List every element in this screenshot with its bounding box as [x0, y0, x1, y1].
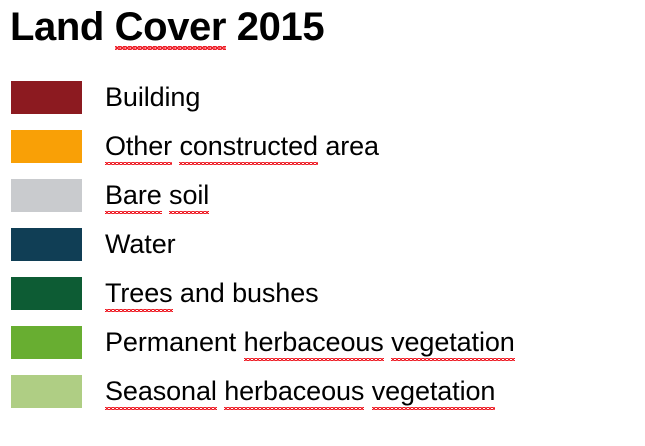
spellcheck-underline: constructed [179, 126, 317, 166]
text-run: and bushes [173, 278, 319, 308]
page-title: Land Cover 2015 [10, 2, 324, 52]
swatch-building [11, 81, 82, 114]
text-run: Permanent [105, 327, 244, 357]
spellcheck-underline: Trees [105, 273, 173, 313]
text-run [384, 327, 391, 357]
swatch-bare-soil [11, 179, 82, 212]
swatch-permanent-herbaceous-vegetation [11, 326, 82, 359]
spellcheck-underline: Other [105, 126, 172, 166]
spellcheck-underline: Cover [115, 2, 226, 52]
text-run: Land [10, 5, 115, 49]
legend-row: Seasonal herbaceous vegetation [0, 373, 645, 422]
swatch-other-constructed-area [11, 130, 82, 163]
legend-label: Trees and bushes [105, 273, 319, 313]
spellcheck-underline: Seasonal [105, 371, 217, 411]
legend-row: Water [0, 226, 645, 275]
legend-row: Bare soil [0, 177, 645, 226]
text-run: Water [105, 229, 176, 259]
legend-row: Building [0, 79, 645, 128]
legend-list: BuildingOther constructed areaBare soilW… [0, 79, 645, 422]
spellcheck-underline: herbaceous [224, 371, 364, 411]
legend-row: Other constructed area [0, 128, 645, 177]
spellcheck-underline: herbaceous [244, 322, 384, 362]
legend-row: Trees and bushes [0, 275, 645, 324]
text-run: area [318, 131, 379, 161]
text-run [217, 376, 224, 406]
legend-label: Seasonal herbaceous vegetation [105, 371, 495, 411]
spellcheck-underline: vegetation [391, 322, 515, 362]
swatch-seasonal-herbaceous-vegetation [11, 375, 82, 408]
legend-label: Bare soil [105, 175, 209, 215]
legend-label: Permanent herbaceous vegetation [105, 322, 515, 362]
spellcheck-underline: soil [169, 175, 209, 215]
text-run: 2015 [226, 5, 324, 49]
text-run [364, 376, 371, 406]
legend-row: Permanent herbaceous vegetation [0, 324, 645, 373]
text-run [162, 180, 169, 210]
swatch-trees-and-bushes [11, 277, 82, 310]
spellcheck-underline: Bare [105, 175, 162, 215]
spellcheck-underline: vegetation [372, 371, 496, 411]
land-cover-legend-panel: Land Cover 2015 BuildingOther constructe… [0, 0, 645, 446]
swatch-water [11, 228, 82, 261]
legend-label: Water [105, 224, 176, 264]
text-run [172, 131, 179, 161]
legend-label: Other constructed area [105, 126, 379, 166]
text-run: Building [105, 82, 200, 112]
legend-label: Building [105, 77, 200, 117]
